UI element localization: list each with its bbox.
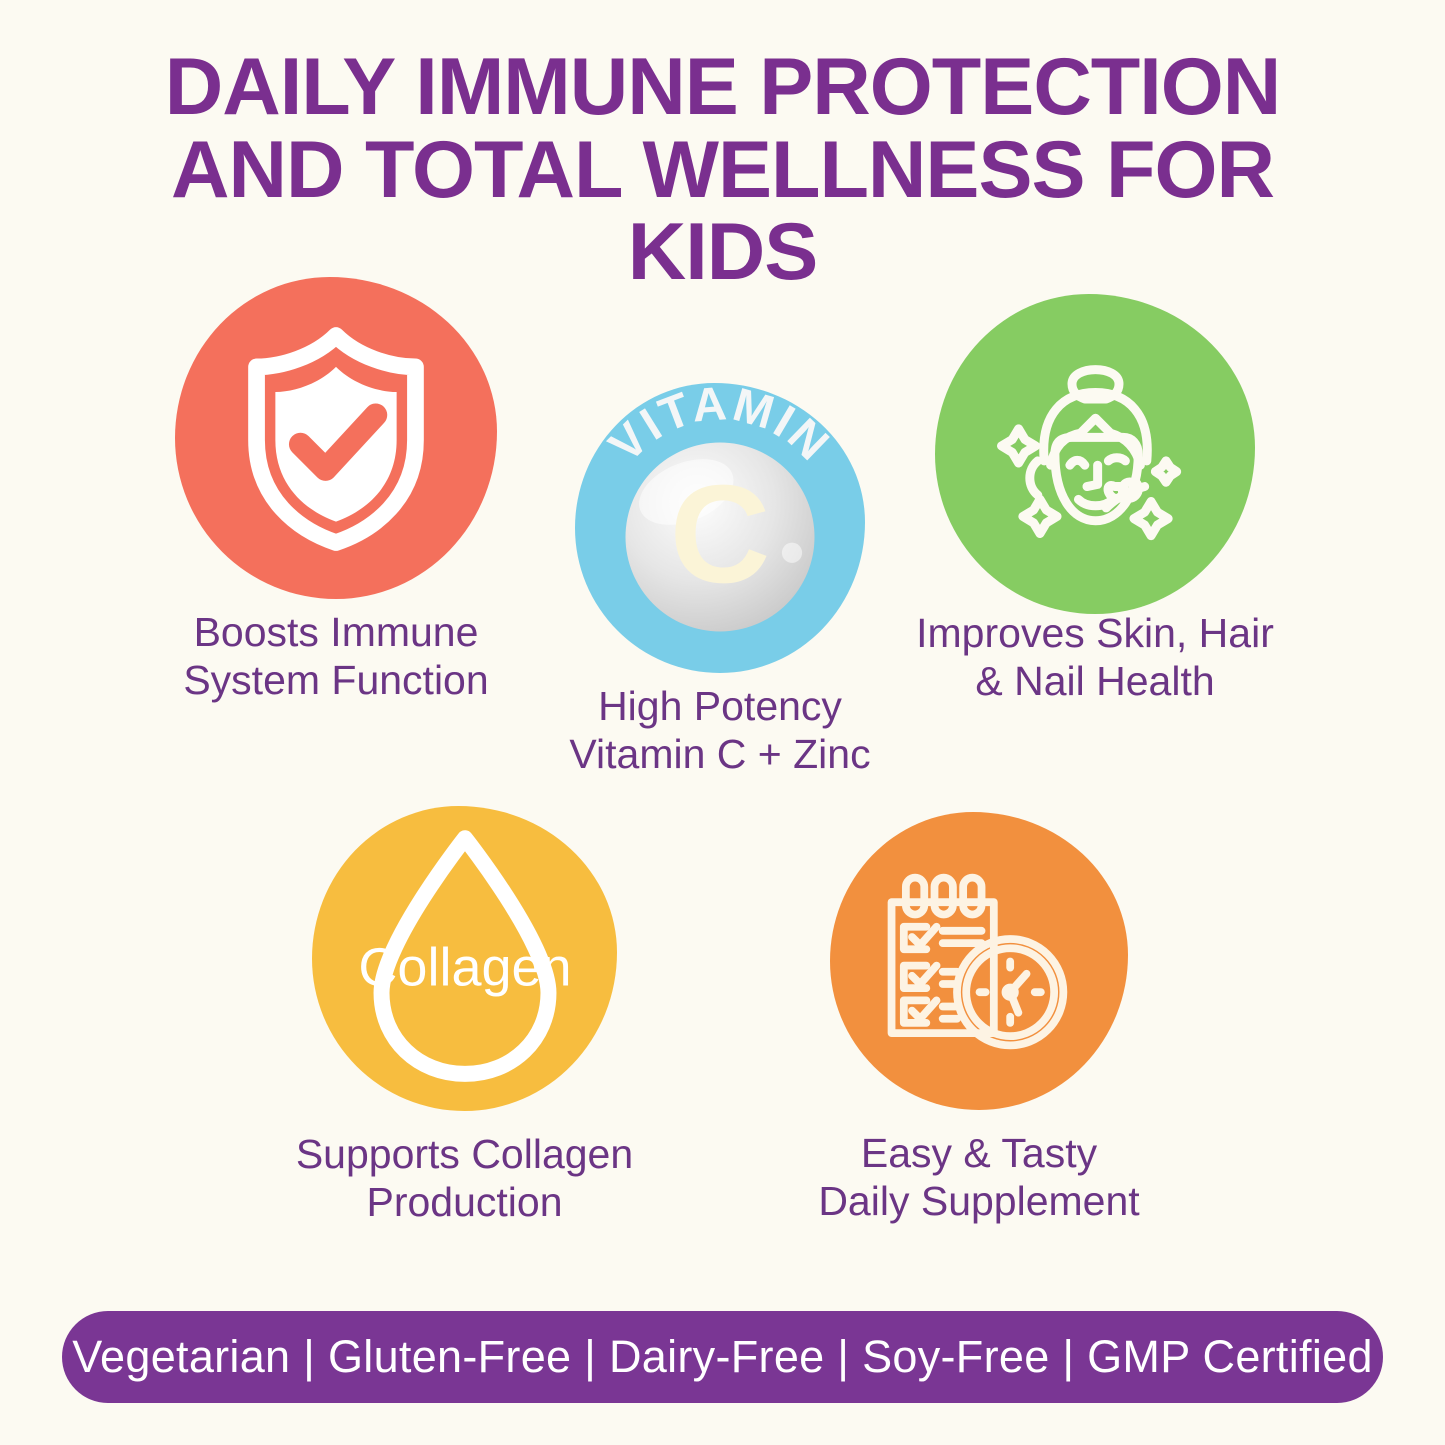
infographic-canvas: DAILY IMMUNE PROTECTION AND TOTAL WELLNE… <box>0 0 1445 1445</box>
badge-circle-collagen: Collagen <box>312 806 617 1111</box>
claims-banner: Vegetarian | Gluten-Free | Dairy-Free | … <box>62 1311 1383 1403</box>
feature-caption-collagen: Supports Collagen Production <box>205 1131 725 1227</box>
vitamin-letter: C <box>670 456 771 612</box>
feature-collagen: Collagen Supports Collagen Production <box>312 806 617 1111</box>
shield-check-icon <box>231 323 441 553</box>
page-title: DAILY IMMUNE PROTECTION AND TOTAL WELLNE… <box>70 46 1375 294</box>
badge-circle-vitamin-c: VITAMIN C <box>575 383 865 673</box>
collagen-droplet-icon: Collagen <box>340 821 590 1096</box>
badge-circle-immune <box>175 277 497 599</box>
feature-vitamin-c: VITAMIN C High Potency Vitamin C + Zinc <box>575 383 865 673</box>
feature-boosts-immune: Boosts Immune System Function <box>175 277 497 599</box>
feature-easy-tasty: Easy & Tasty Daily Supplement <box>830 812 1128 1110</box>
feature-caption-skin: Improves Skin, Hair & Nail Health <box>835 610 1355 706</box>
droplet-label: Collagen <box>358 938 571 998</box>
face-skincare-icon <box>978 337 1213 572</box>
badge-circle-easy <box>830 812 1128 1110</box>
vitamin-c-tablet-icon: VITAMIN C <box>585 393 855 663</box>
feature-caption-easy: Easy & Tasty Daily Supplement <box>719 1130 1239 1226</box>
claims-banner-text: Vegetarian | Gluten-Free | Dairy-Free | … <box>72 1331 1373 1383</box>
feature-skin-hair-nail: Improves Skin, Hair & Nail Health <box>935 294 1255 614</box>
checklist-clock-icon <box>867 849 1092 1074</box>
badge-circle-skin <box>935 294 1255 614</box>
